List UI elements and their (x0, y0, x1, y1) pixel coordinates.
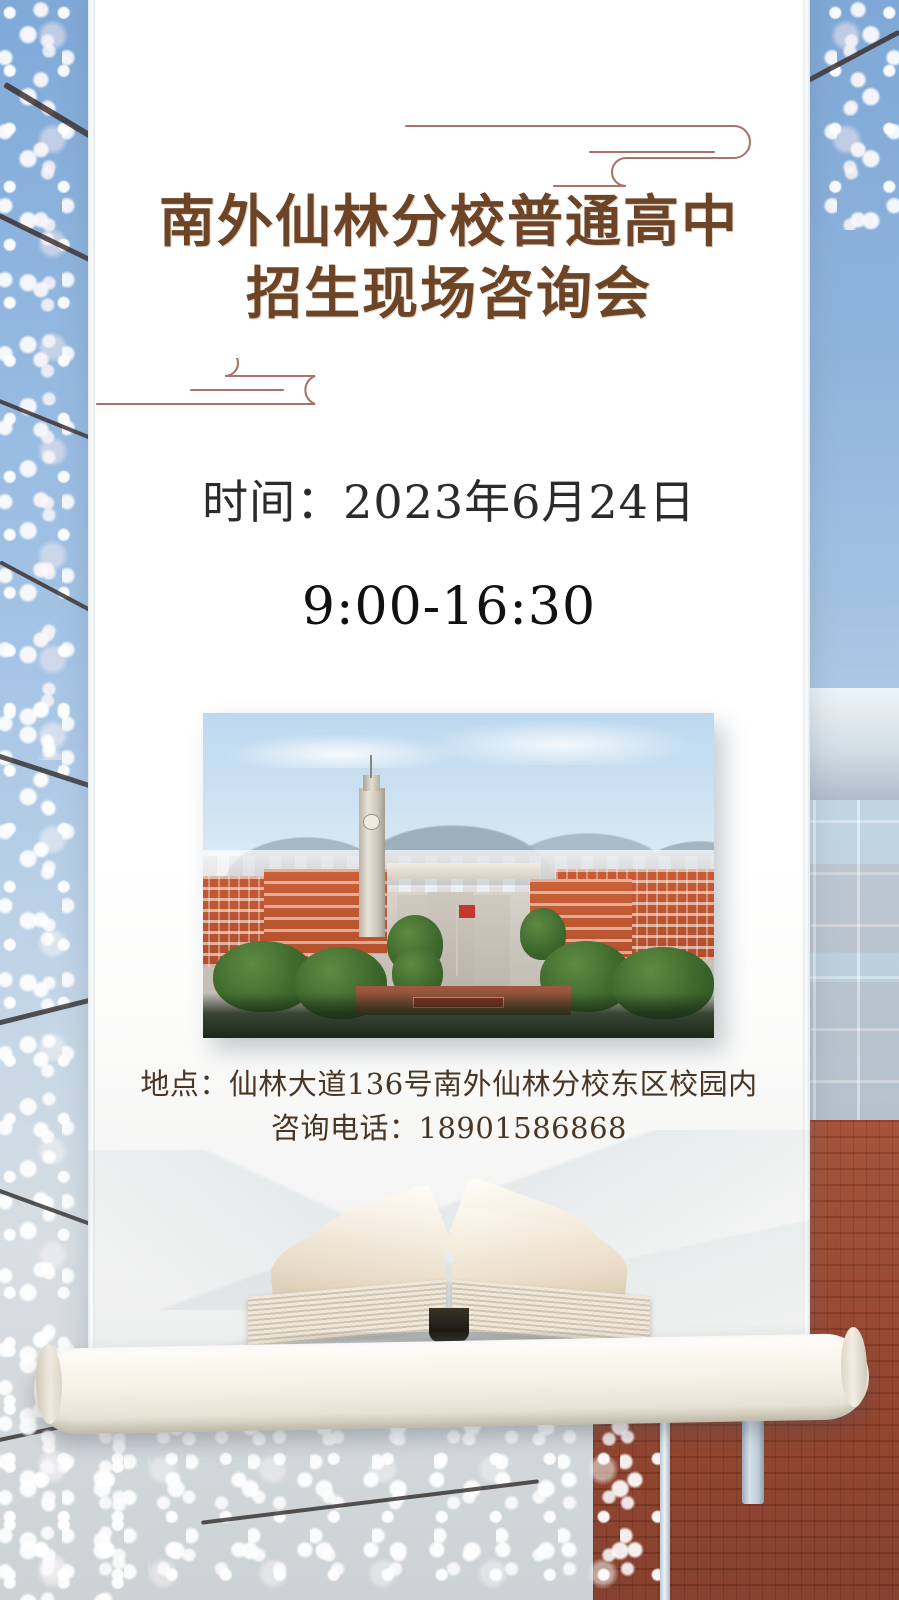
photo-corridor (387, 863, 540, 879)
cloud-scroll-ornament-icon (404, 118, 784, 190)
photo-clock-face (363, 814, 379, 830)
page-title: 南外仙林分校普通高中 招生现场咨询会 (88, 186, 810, 330)
title-line-1: 南外仙林分校普通高中 (159, 189, 739, 255)
photo-tower-top (363, 775, 380, 791)
event-time-range: 9:00-16:30 (88, 576, 810, 638)
open-book-icon (244, 1192, 654, 1352)
paper-scroll-roll (33, 1333, 869, 1435)
photo-clock-tower (359, 788, 386, 938)
poster-root: 南外仙林分校普通高中 招生现场咨询会 时间：2023年6月24日 9:00-16… (0, 0, 899, 1600)
photo-cloud-left (223, 733, 458, 769)
contact-block: 地点：仙林大道136号南外仙林分校东区校园内 咨询电话：18901586868 (88, 1062, 810, 1150)
photo-foreground-shadow (203, 993, 714, 1039)
venue-address: 地点：仙林大道136号南外仙林分校东区校园内 (140, 1067, 757, 1101)
photo-cloud-right (428, 720, 694, 766)
event-date: 时间：2023年6月24日 (88, 474, 810, 530)
campus-aerial-photo (203, 713, 714, 1038)
contact-phone: 咨询电话：18901586868 (88, 1106, 810, 1150)
title-line-2: 招生现场咨询会 (88, 258, 810, 330)
cloud-scroll-ornament-mirrored-icon (95, 358, 375, 424)
photo-flag (459, 905, 475, 918)
photo-tower-spire (370, 755, 372, 778)
